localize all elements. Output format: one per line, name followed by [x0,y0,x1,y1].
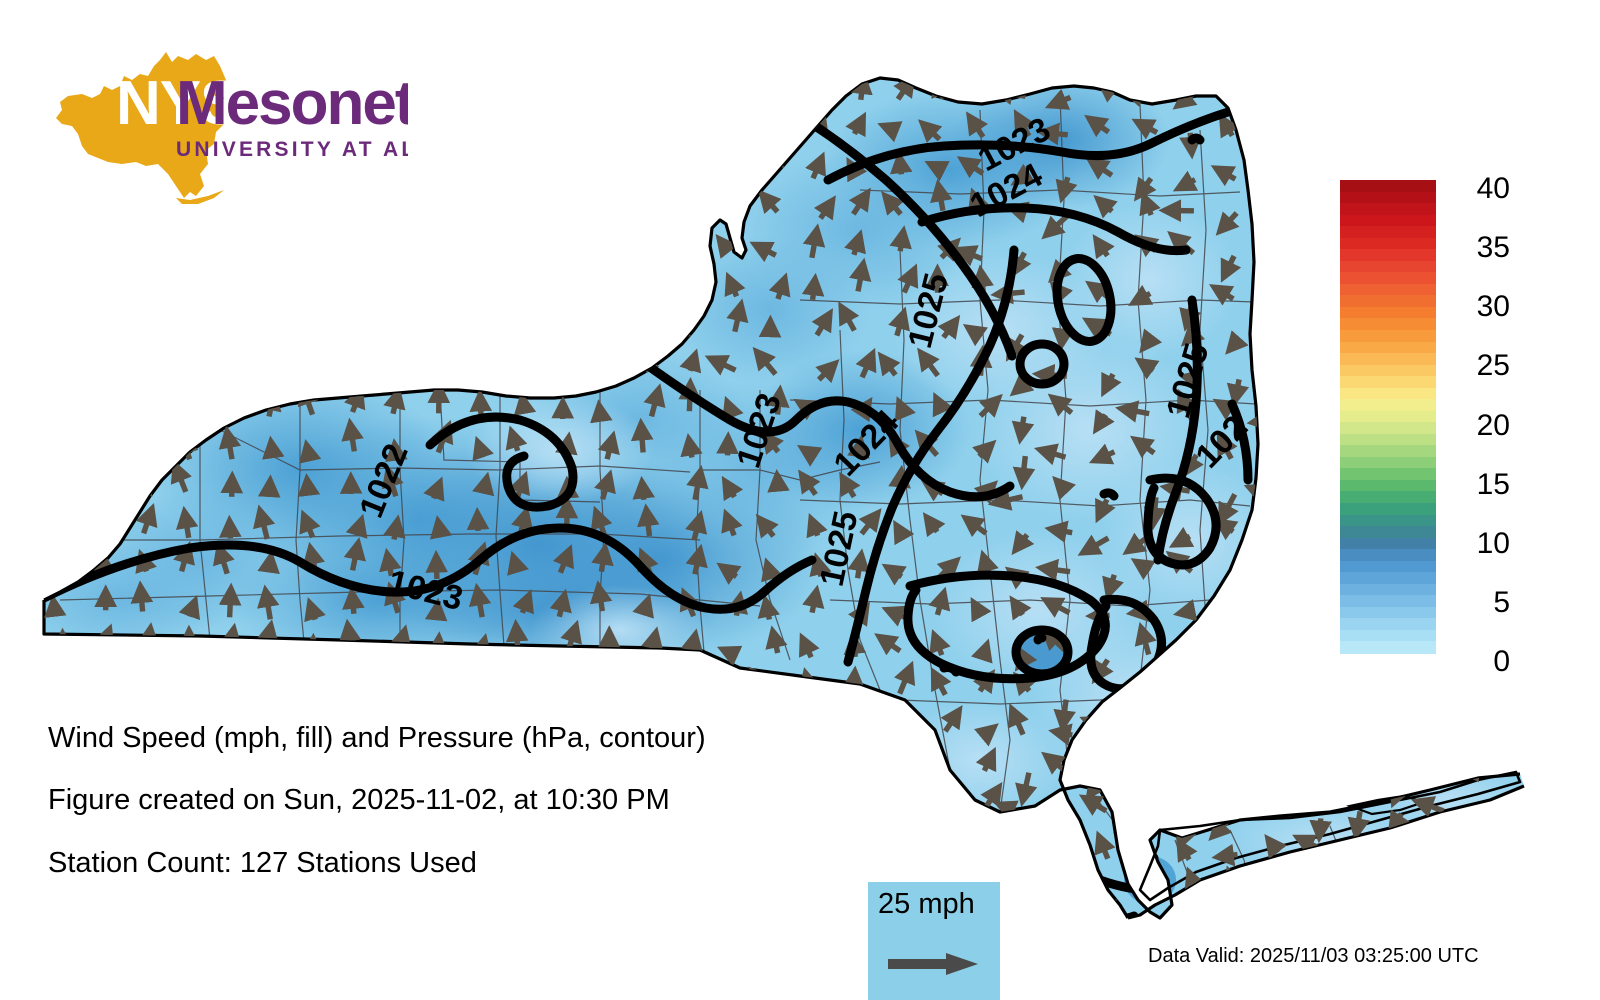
colorbar-tick: 15 [1448,470,1510,500]
wind-arrow [1265,881,1283,892]
wind-arrow [560,760,567,779]
wind-arrow [1357,811,1361,831]
wind-arrow [768,567,772,579]
wind-arrow [1190,771,1198,795]
wind-arrow [104,348,107,372]
colorbar-tick: 5 [1448,588,1510,618]
wind-arrow [315,756,320,778]
wind-arrow [269,881,270,894]
wind-arrow [140,240,141,253]
wind-arrow [1259,540,1279,555]
wind-arrow [684,800,688,819]
wind-arrow [686,681,687,693]
wind-arrow [1146,736,1155,743]
wind-arrow [642,486,644,500]
wind-arrow [308,318,312,334]
wind-arrow [1271,458,1276,470]
wind-arrow [54,604,55,615]
wind-arrow [435,313,436,332]
wind-arrow [1265,376,1280,385]
wind-arrow [393,686,397,699]
wind-arrow [643,873,646,892]
colorbar-band [1340,538,1436,550]
wind-arrow [429,240,434,260]
wind-arrow [441,196,447,215]
wind-arrow [147,285,149,298]
colorbar-tick: 0 [1448,647,1510,677]
wind-arrow [600,409,601,419]
colorbar-band [1340,584,1436,596]
colorbar-band [1340,180,1436,192]
wind-arrow [1271,693,1279,702]
wind-arrow [755,674,770,692]
wind-arrow [1307,218,1316,227]
wind-arrow [312,643,313,656]
wind-scale-label: 25 mph [878,888,975,921]
wind-arrow [600,681,603,695]
wind-arrow [273,321,276,332]
wind-arrow [180,268,183,292]
wind-arrow [353,676,354,697]
colorbar-tick: 20 [1448,411,1510,441]
wind-arrow [1317,607,1322,619]
wind-arrow [1306,530,1319,534]
wind-arrow [142,194,150,214]
colorbar-band [1340,607,1436,619]
colorbar-band [1340,249,1436,261]
wind-arrow [143,481,147,491]
wind-arrow [731,687,733,699]
wind-arrow [143,439,144,452]
wind-arrow [224,675,227,695]
wind-arrow [1228,616,1237,620]
wind-arrow [1311,259,1318,270]
wind-arrow [773,81,775,95]
wind-arrow [524,843,527,859]
wind-arrow [348,628,351,651]
wind-arrow [232,398,233,416]
wind-arrow [314,354,318,375]
wind-arrow [356,75,359,91]
colorbar-band [1340,342,1436,354]
wind-arrow [1390,888,1401,899]
wind-arrow [776,130,785,140]
weather-map-page: NYS Mesonet UNIVERSITY AT ALBANY [0,0,1600,1000]
wind-arrow [483,358,490,377]
wind-arrow [189,689,193,698]
wind-arrow [439,525,441,535]
colorbar-band [1340,411,1436,423]
wind-arrow [438,641,439,655]
wind-arrow [189,236,193,251]
wind-arrow [184,355,190,379]
wind-arrow [773,759,778,779]
wind-arrow [1466,730,1488,736]
wind-arrow [812,878,828,894]
wind-arrow [63,478,66,490]
wind-arrow [1020,900,1029,924]
wind-arrow [1231,577,1232,601]
wind-arrow [718,808,727,819]
wind-arrow [439,111,440,131]
colorbar-gradient [1340,180,1436,653]
wind-arrow [311,73,315,97]
wind-arrow [858,558,861,578]
wind-arrow [1473,858,1488,873]
wind-speed-colorbar [1340,180,1436,653]
wind-arrow [89,478,97,497]
colorbar-band [1340,480,1436,492]
wind-arrow [485,88,489,100]
colorbar-band [1340,561,1436,573]
wind-arrow [225,194,227,212]
wind-arrow [351,427,355,451]
wind-arrow [269,484,270,494]
wind-arrow [559,153,561,176]
colorbar-band [1340,307,1436,319]
wind-arrow [55,404,60,417]
data-valid-timestamp: Data Valid: 2025/11/03 03:25:00 UTC [1148,945,1479,968]
wind-arrow [516,629,518,653]
wind-arrow [1017,854,1028,867]
wind-arrow [481,121,485,131]
wind-arrow [61,681,62,696]
wind-arrow [101,198,104,219]
colorbar-band [1340,515,1436,527]
wind-arrow [105,321,108,339]
wind-arrow [481,681,482,691]
wind-arrow [817,764,822,779]
wind-arrow [307,483,308,495]
wind-arrow [812,594,816,613]
wind-arrow [880,722,896,733]
wind-arrow [1267,89,1278,92]
wind-arrow [1294,329,1317,335]
wind-arrow [798,716,813,734]
wind-arrow [58,204,62,217]
wind-arrow [1130,93,1154,100]
wind-arrow [686,753,690,777]
wind-arrow [148,313,153,337]
wind-arrow [479,445,483,455]
wind-arrow [807,677,812,698]
colorbar-tick: 40 [1448,174,1510,204]
wind-arrow [522,676,524,698]
wind-arrow [393,196,394,211]
wind-arrow [844,838,854,855]
wind-arrow [646,279,648,300]
wind-arrow [766,604,769,620]
wind-arrow [553,280,559,300]
wind-arrow [1303,891,1321,897]
wind-arrow [353,236,360,260]
colorbar-tick: 30 [1448,292,1510,322]
wind-arrow [1062,330,1063,341]
wind-arrow [729,88,730,98]
wind-arrow [1299,577,1316,582]
wind-arrow [225,150,232,173]
wind-arrow [400,86,403,98]
wind-arrow [394,524,397,540]
wind-arrow [1269,657,1279,659]
wind-arrow [1183,611,1193,613]
wind-arrow [272,445,274,457]
wind-arrow [399,285,401,295]
wind-arrow [610,875,618,899]
colorbar-band [1340,192,1436,204]
wind-arrow [1144,780,1148,791]
colorbar-band [1340,284,1436,296]
wind-arrow [393,239,395,254]
wind-arrow [265,240,267,254]
wind-arrow [689,443,692,458]
wind-arrow [814,796,827,818]
wind-arrow [735,891,741,900]
wind-arrow [774,826,780,850]
wind-arrow [229,230,233,253]
wind-arrow [58,436,61,454]
colorbar-band [1340,434,1436,446]
wind-arrow [357,523,360,534]
wind-arrow [226,880,230,896]
figure-title: Wind Speed (mph, fill) and Pressure (hPa… [48,722,706,755]
wind-arrow [1348,872,1363,893]
wind-arrow [135,356,141,372]
wind-arrow [1442,258,1448,276]
wind-arrow [777,479,778,492]
wind-arrow [430,759,435,773]
wind-arrow [394,317,397,336]
wind-arrow [1437,539,1446,547]
wind-arrow [813,283,815,300]
wind-arrow [646,159,650,172]
wind-arrow [435,359,438,371]
colorbar-band [1340,295,1436,307]
wind-arrow [274,116,278,141]
wind-arrow [691,158,692,172]
wind-arrow [63,356,64,372]
wind-arrow [640,687,644,699]
wind-arrow [357,156,361,178]
wind-arrow [601,357,605,377]
wind-arrow [106,162,111,173]
wind-arrow [230,592,231,617]
wind-arrow [1320,818,1321,833]
colorbar-band [1340,399,1436,411]
wind-arrow [690,271,693,292]
figure-created: Figure created on Sun, 2025-11-02, at 10… [48,784,670,817]
wind-arrow [1063,700,1066,724]
wind-arrow [1438,715,1446,732]
wind-arrow [1435,481,1447,499]
wind-arrow [900,160,902,174]
wind-arrow [1315,777,1324,785]
wind-arrow [967,839,984,851]
wind-arrow [99,766,101,780]
wind-arrow [730,119,733,140]
colorbar-band [1340,353,1436,365]
wind-arrow [768,791,772,817]
wind-arrow [1394,854,1403,858]
wind-arrow [55,509,59,531]
wind-arrow [107,230,115,253]
wind-arrow [1385,132,1408,142]
colorbar-band [1340,318,1436,330]
wind-arrow [1102,895,1107,907]
wind-arrow [483,481,486,493]
wind-arrow [1196,737,1198,759]
wind-arrow [147,632,150,652]
wind-arrow [523,401,525,413]
wind-arrow [230,524,231,538]
wind-arrow [96,275,105,297]
wind-arrow [900,235,903,251]
wind-arrow [346,768,350,780]
wind-arrow [1319,495,1321,517]
colorbar-band [1340,630,1436,642]
wind-arrow [1235,379,1239,397]
wind-arrow [177,120,182,134]
wind-arrow [58,761,63,776]
wind-arrow [566,887,568,899]
wind-arrow [60,85,61,98]
wind-arrow [470,238,477,260]
wind-arrow [400,155,407,175]
wind-arrow [1226,689,1241,696]
wind-arrow [862,792,868,817]
wind-arrow [477,319,480,334]
wind-arrow [145,386,146,411]
colorbar-band [1340,376,1436,388]
colorbar-band [1340,238,1436,250]
colorbar-band [1340,526,1436,538]
wind-arrow [1436,299,1447,316]
wind-arrow [1474,90,1493,98]
station-count: Station Count: 127 Stations Used [48,847,477,880]
colorbar-band [1340,261,1436,273]
wind-arrow [522,277,531,300]
wind-arrow [1058,732,1073,735]
wind-arrow [435,78,438,98]
wind-arrow [805,847,820,859]
wind-scale-arrow-icon [884,944,984,984]
wind-arrow [609,283,611,299]
wind-arrow [350,109,357,131]
colorbar-band [1340,422,1436,434]
wind-arrow [64,561,67,573]
wind-arrow [904,829,912,853]
wind-arrow [518,320,523,339]
wind-arrow [1396,728,1409,732]
wind-arrow [1088,721,1111,731]
wind-arrow [268,754,270,776]
wind-arrow [1436,763,1451,775]
wind-arrow [1443,80,1447,91]
wind-arrow [605,116,608,132]
wind-arrow [1423,893,1445,898]
wind-arrow [982,648,986,659]
wind-arrow [518,756,519,779]
wind-arrow [97,79,99,94]
colorbar-tick-labels: 4035302520151050 [1448,180,1528,653]
wind-arrow [274,682,276,699]
colorbar-band [1340,595,1436,607]
colorbar-band [1340,641,1436,653]
wind-arrow [1383,96,1400,97]
wind-arrow [1348,97,1358,99]
wind-arrow [57,241,58,259]
wind-arrow [1054,530,1072,533]
wind-arrow [1388,693,1404,702]
wind-arrow [143,687,145,699]
wind-arrow [99,118,104,133]
wind-arrow [863,762,873,777]
wind-arrow [229,78,235,98]
wind-arrow [682,319,689,337]
wind-arrow [475,760,482,778]
wind-arrow [522,233,525,253]
wind-arrow [1264,318,1274,333]
wind-arrow [140,72,145,93]
wind-arrow [982,86,985,98]
wind-arrow [684,238,691,256]
wind-arrow [514,560,518,572]
wind-arrow [551,230,559,253]
wind-arrow [1342,858,1363,859]
wind-scale-legend: 25 mph [868,882,1000,1000]
wind-arrow [306,268,311,293]
wind-arrow [439,680,441,696]
wind-arrow [352,313,356,330]
wind-arrow [710,720,729,730]
wind-arrow [1134,854,1151,865]
wind-arrow [392,116,397,140]
wind-arrow [687,840,690,853]
wind-arrow [946,838,947,852]
wind-arrow [522,126,524,137]
wind-arrow [101,444,105,460]
wind-arrow [735,841,751,859]
wind-arrow [523,157,524,178]
wind-arrow [517,358,521,370]
wind-arrow [560,196,566,216]
wind-arrow [224,764,227,775]
wind-arrow [308,124,314,139]
wind-arrow [891,755,900,773]
wind-arrow [1184,683,1196,697]
wind-arrow [146,118,153,136]
wind-arrow [61,313,63,338]
wind-arrow [646,321,649,331]
colorbar-band [1340,468,1436,480]
wind-arrow [1023,456,1026,481]
wind-arrow [1221,759,1241,771]
colorbar-band [1340,365,1436,377]
wind-arrow [436,273,445,296]
wind-arrow [1045,568,1070,571]
wind-arrow [141,590,143,612]
wind-arrow [1481,696,1487,709]
wind-arrow [568,324,569,336]
colorbar-tick: 25 [1448,351,1510,381]
wind-arrow [1256,419,1278,422]
wind-arrow [1231,646,1235,656]
wind-arrow [1343,754,1358,774]
wind-arrow [1231,739,1235,749]
wind-arrow [601,552,604,572]
wind-arrow [1230,875,1237,893]
wind-arrow [565,82,569,99]
